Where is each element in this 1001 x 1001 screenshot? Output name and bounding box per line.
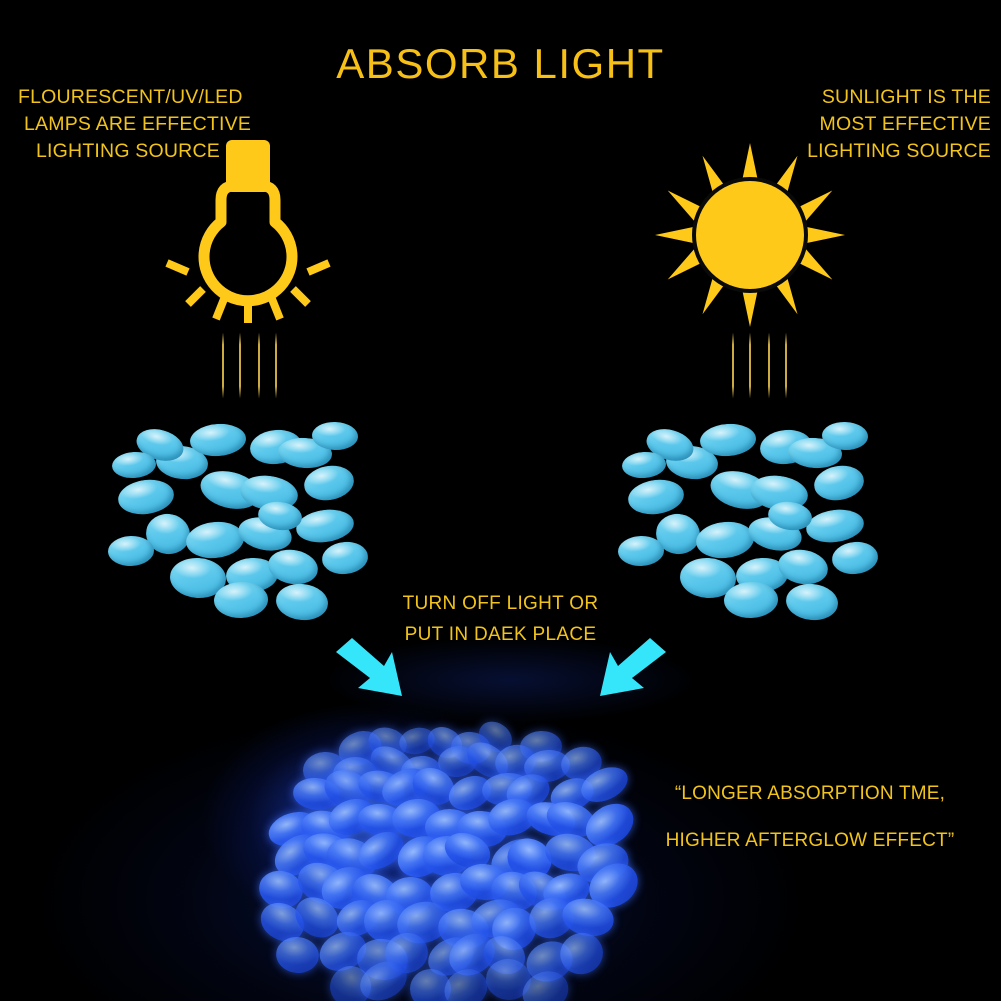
beam-line <box>275 333 277 398</box>
right-caption-line-1: SUNLIGHT IS THE <box>807 84 991 111</box>
pebble <box>694 519 755 561</box>
pebble <box>320 540 369 577</box>
left-caption-line-1: FLOURESCENT/UV/LED <box>18 84 251 111</box>
page-title: ABSORB LIGHT <box>0 40 1001 88</box>
pebble <box>621 450 667 479</box>
pebble <box>184 519 245 561</box>
beam-line <box>749 333 751 398</box>
left-caption-line-2: LAMPS ARE EFFECTIVE <box>18 111 251 138</box>
pebble <box>116 476 176 517</box>
beam-line <box>239 333 241 398</box>
pebble <box>699 422 757 458</box>
quote-line-2: HIGHER AFTERGLOW EFFECT” <box>620 817 1000 864</box>
pebble <box>617 535 664 567</box>
pebble <box>301 462 356 504</box>
glowing-pebble-pile <box>250 718 610 1001</box>
turn-off-light-instruction: TURN OFF LIGHT OR PUT IN DAEK PLACE <box>0 588 1001 650</box>
beam-line <box>222 333 224 398</box>
sun-icon <box>655 143 845 328</box>
pebble <box>294 506 356 546</box>
beam-line <box>785 333 787 398</box>
light-bulb-icon <box>148 140 348 325</box>
pebble <box>626 476 686 517</box>
pebble <box>107 535 154 567</box>
product-infographic: ABSORB LIGHT FLOURESCENT/UV/LED LAMPS AR… <box>0 0 1001 1001</box>
pebble <box>189 422 247 458</box>
pebble <box>811 462 866 504</box>
instruction-line-2: PUT IN DAEK PLACE <box>0 619 1001 650</box>
beam-line <box>732 333 734 398</box>
pebble <box>804 506 866 546</box>
right-caption-line-2: MOST EFFECTIVE <box>807 111 991 138</box>
light-beam-lines-left <box>222 333 282 398</box>
light-beam-lines-right <box>732 333 792 398</box>
beam-line <box>768 333 770 398</box>
pebble <box>830 540 879 577</box>
afterglow-quote: “LONGER ABSORPTION TME, HIGHER AFTERGLOW… <box>620 770 1000 864</box>
pebble <box>111 450 157 479</box>
beam-line <box>258 333 260 398</box>
quote-line-1: “LONGER ABSORPTION TME, <box>620 770 1000 817</box>
instruction-line-1: TURN OFF LIGHT OR <box>0 588 1001 619</box>
